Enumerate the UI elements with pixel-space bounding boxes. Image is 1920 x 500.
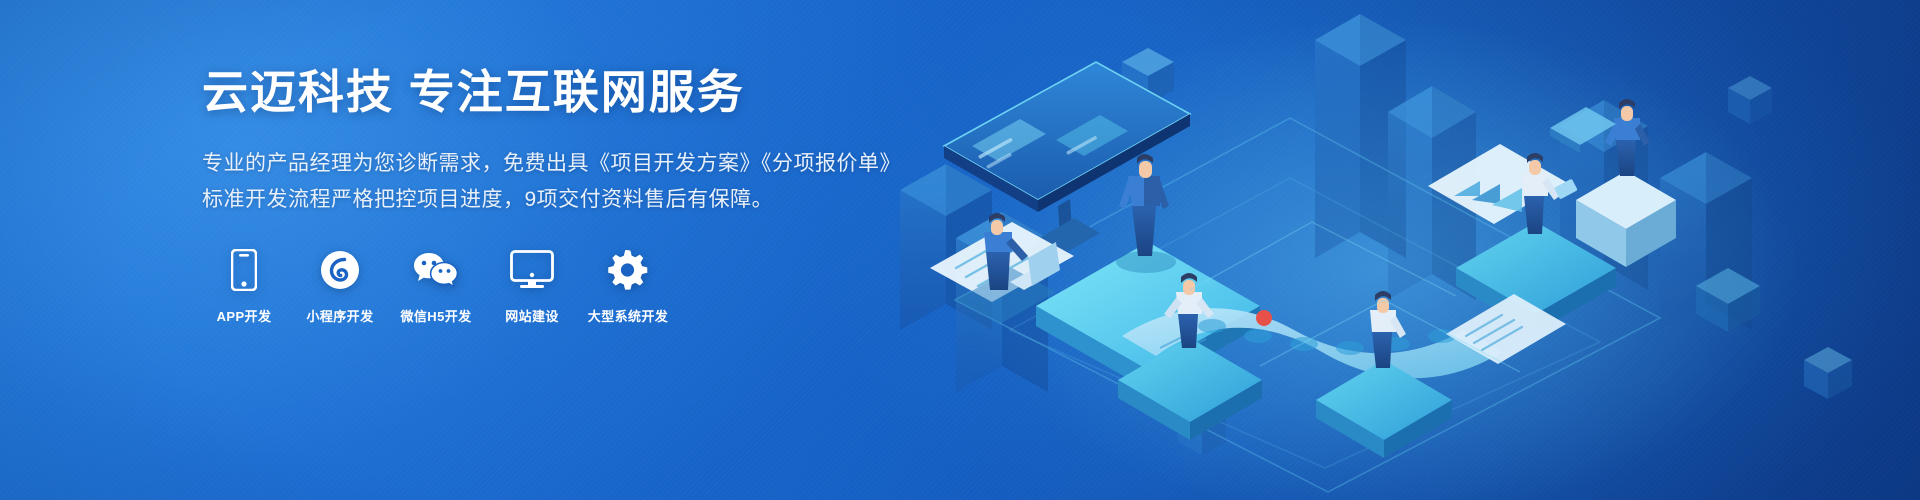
banner-content: 云迈科技 专注互联网服务 专业的产品经理为您诊断需求，免费出具《项目开发方案》《…: [202, 64, 962, 325]
gear-icon: [607, 248, 649, 292]
service-item-app[interactable]: APP开发: [202, 248, 286, 325]
hero-banner: 云迈科技 专注互联网服务 专业的产品经理为您诊断需求，免费出具《项目开发方案》《…: [0, 0, 1920, 500]
mini-program-icon: [320, 248, 360, 292]
service-label-website: 网站建设: [505, 306, 559, 325]
service-item-website[interactable]: 网站建设: [490, 248, 574, 325]
subtitle-line-1: 专业的产品经理为您诊断需求，免费出具《项目开发方案》《分项报价单》: [202, 146, 962, 182]
service-label-wechat: 微信H5开发: [400, 306, 471, 325]
service-label-app: APP开发: [217, 306, 272, 325]
isometric-illustration: [860, 0, 1920, 500]
service-label-miniprogram: 小程序开发: [306, 306, 373, 325]
service-item-wechat[interactable]: 微信H5开发: [394, 248, 478, 325]
service-item-system[interactable]: 大型系统开发: [586, 248, 670, 325]
banner-subtitle: 专业的产品经理为您诊断需求，免费出具《项目开发方案》《分项报价单》 标准开发流程…: [202, 146, 962, 218]
service-item-miniprogram[interactable]: 小程序开发: [298, 248, 382, 325]
service-label-system: 大型系统开发: [588, 306, 668, 325]
page-title: 云迈科技 专注互联网服务: [202, 64, 962, 122]
mobile-phone-icon: [231, 248, 257, 292]
subtitle-line-2: 标准开发流程严格把控项目进度，9项交付资料售后有保障。: [202, 182, 962, 218]
monitor-icon: [510, 248, 554, 292]
wechat-icon: [413, 248, 459, 292]
service-icon-row: APP开发 小程序开发: [202, 248, 962, 325]
